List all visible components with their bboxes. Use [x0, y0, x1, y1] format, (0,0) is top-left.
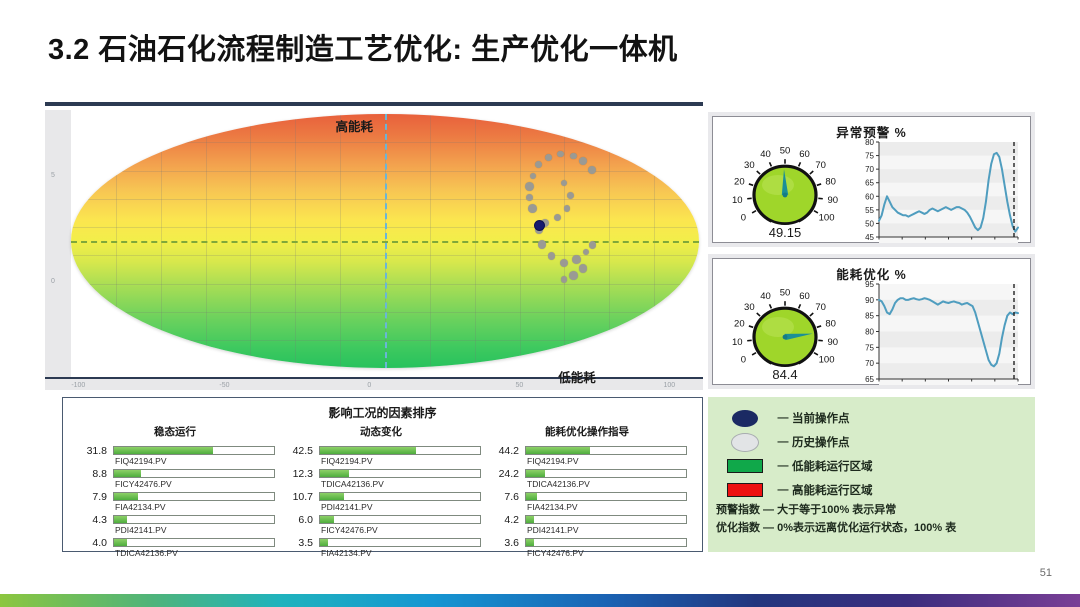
gauge-panel-anomaly-warning[interactable]: 异常预警 % 0102030405060708090100 49.15 4550… — [708, 112, 1035, 247]
plot-y-tick: 0 — [51, 278, 55, 285]
svg-text:80: 80 — [825, 176, 836, 187]
svg-text:70: 70 — [865, 165, 874, 174]
factor-tag: FICY42476.PV — [527, 548, 584, 558]
factor-row[interactable]: 8.8FICY42476.PV — [75, 468, 275, 491]
factor-value: 24.2 — [487, 468, 519, 480]
current-point-marker — [732, 410, 758, 427]
factor-bar-fill — [320, 539, 328, 546]
footer-color-bar — [0, 594, 1080, 607]
svg-text:45: 45 — [865, 233, 874, 242]
factor-bar-fill — [114, 516, 127, 523]
factor-row[interactable]: 3.6FICY42476.PV — [487, 537, 687, 560]
svg-text:60: 60 — [799, 149, 810, 160]
plot-x-tick: 50 — [515, 382, 523, 389]
plot-x-tick: -50 — [219, 382, 229, 389]
svg-text:65: 65 — [865, 179, 874, 188]
trend-chart-anomaly[interactable]: 4550556065707580 — [849, 138, 1024, 243]
svg-text:80: 80 — [865, 328, 874, 337]
svg-text:55: 55 — [865, 206, 874, 215]
dashboard-container: 50-5 -100-50050100 高能耗 低能耗 异常预警 % 010203… — [45, 102, 1035, 557]
legend-dash: — — [774, 436, 792, 448]
factor-bar-fill — [526, 493, 537, 500]
plot-y-tick: 5 — [51, 172, 55, 179]
factor-value: 6.0 — [281, 514, 313, 526]
factor-bar — [525, 446, 687, 455]
svg-text:10: 10 — [732, 337, 743, 348]
factor-value: 4.3 — [75, 514, 107, 526]
factor-bar — [525, 492, 687, 501]
factor-bar — [113, 492, 275, 501]
factor-row[interactable]: 10.7PDI42141.PV — [281, 491, 481, 514]
factor-row[interactable]: 12.3TDICA42136.PV — [281, 468, 481, 491]
factor-row[interactable]: 7.9FIA42134.PV — [75, 491, 275, 514]
factor-bar-fill — [320, 470, 349, 477]
svg-text:0: 0 — [741, 213, 746, 224]
history-operating-point — [560, 259, 568, 267]
horizontal-reference-line — [71, 241, 699, 243]
factor-tag: PDI42141.PV — [527, 525, 579, 535]
factor-row[interactable]: 6.0FICY42476.PV — [281, 514, 481, 537]
gauge-value-anomaly: 49.15 — [721, 225, 849, 240]
legend-panel: —当前操作点—历史操作点—低能耗运行区域—高能耗运行区域预警指数 — 大于等于1… — [708, 397, 1035, 552]
svg-text:80: 80 — [825, 318, 836, 329]
history-operating-point — [564, 205, 570, 211]
factor-tag: FIQ42194.PV — [321, 456, 373, 466]
factor-ranking-panel[interactable]: 影响工况的因素排序 稳态运行31.8FIQ42194.PV8.8FICY4247… — [62, 397, 703, 552]
factor-bar-fill — [320, 493, 344, 500]
factor-bar-fill — [320, 516, 334, 523]
legend-label: 低能耗运行区域 — [792, 458, 873, 474]
legend-dash: — — [774, 484, 792, 496]
factor-bar-fill — [526, 470, 545, 477]
legend-swatch-wrap — [716, 410, 774, 427]
factor-value: 3.5 — [281, 537, 313, 549]
gauge-panel-energy-optimization[interactable]: 能耗优化 % 0102030405060708090100 84.4 65707… — [708, 254, 1035, 389]
svg-text:0: 0 — [741, 355, 746, 366]
legend-note: 优化指数 — 0%表示远离优化运行状态，100% 表 — [716, 521, 1027, 537]
history-operating-point — [561, 276, 568, 283]
svg-text:20: 20 — [734, 318, 745, 329]
factor-value: 4.2 — [487, 514, 519, 526]
slide-number: 51 — [1040, 567, 1052, 579]
factor-tag: FICY42476.PV — [321, 525, 378, 535]
factor-bar — [525, 469, 687, 478]
factor-value: 4.0 — [75, 537, 107, 549]
legend-swatch-wrap — [716, 483, 774, 497]
history-operating-point — [545, 154, 552, 161]
factor-bar — [525, 538, 687, 547]
factor-value: 12.3 — [281, 468, 313, 480]
factor-value: 8.8 — [75, 468, 107, 480]
svg-text:70: 70 — [865, 359, 874, 368]
factor-row[interactable]: 4.0TDICA42136.PV — [75, 537, 275, 560]
gauge-value-energy: 84.4 — [721, 367, 849, 382]
high-energy-zone — [727, 483, 763, 497]
trend-chart-energy[interactable]: 65707580859095 — [849, 280, 1024, 385]
factor-tag: FIA42134.PV — [321, 548, 372, 558]
svg-text:40: 40 — [760, 291, 771, 302]
svg-text:100: 100 — [819, 213, 835, 224]
plot-y-axis: 50-5 — [45, 110, 71, 390]
factor-column-steady-state: 稳态运行31.8FIQ42194.PV8.8FICY42476.PV7.9FIA… — [75, 424, 275, 560]
factor-row[interactable]: 24.2TDICA42136.PV — [487, 468, 687, 491]
plot-x-tick: 0 — [367, 382, 371, 389]
svg-text:20: 20 — [734, 176, 745, 187]
factor-bar — [113, 515, 275, 524]
factor-bar — [525, 515, 687, 524]
history-operating-point — [589, 241, 596, 248]
factor-row[interactable]: 3.5FIA42134.PV — [281, 537, 481, 560]
factor-column-optimization-guide: 能耗优化操作指导44.2FIQ42194.PV24.2TDICA42136.PV… — [487, 424, 687, 560]
legend-row: —高能耗运行区域 — [716, 479, 1027, 501]
factor-panel-title: 影响工况的因素排序 — [63, 404, 702, 421]
svg-text:100: 100 — [819, 355, 835, 366]
factor-bar-fill — [114, 493, 138, 500]
history-operating-point — [572, 255, 581, 264]
svg-text:90: 90 — [827, 195, 838, 206]
low-energy-label: 低能耗 — [558, 367, 596, 386]
factor-bar — [319, 515, 481, 524]
history-operating-point — [579, 157, 587, 165]
history-operating-point — [530, 173, 536, 179]
svg-text:85: 85 — [865, 312, 874, 321]
legend-swatch-wrap — [716, 459, 774, 473]
factor-tag: FIQ42194.PV — [115, 456, 167, 466]
svg-text:60: 60 — [799, 291, 810, 302]
high-energy-label: 高能耗 — [335, 116, 373, 135]
history-operating-point — [569, 271, 578, 280]
svg-text:75: 75 — [865, 152, 874, 161]
history-point-marker — [731, 433, 759, 452]
factor-bar-fill — [526, 447, 590, 454]
plot-x-tick: -100 — [71, 382, 85, 389]
energy-gradient-ellipse — [71, 114, 699, 368]
history-operating-point — [526, 194, 533, 201]
factor-bar-fill — [114, 470, 141, 477]
svg-text:60: 60 — [865, 192, 874, 201]
svg-text:90: 90 — [827, 337, 838, 348]
factor-row[interactable]: 31.8FIQ42194.PV — [75, 445, 275, 468]
factor-bar — [113, 538, 275, 547]
legend-swatch-wrap — [716, 433, 774, 452]
svg-text:90: 90 — [865, 296, 874, 305]
history-operating-point — [548, 252, 556, 260]
svg-text:95: 95 — [865, 280, 874, 289]
factor-row[interactable]: 42.5FIQ42194.PV — [281, 445, 481, 468]
gauge-inner: 能耗优化 % 0102030405060708090100 84.4 65707… — [712, 258, 1031, 385]
svg-text:10: 10 — [732, 195, 743, 206]
legend-label: 高能耗运行区域 — [792, 482, 873, 498]
history-operating-point — [570, 153, 576, 159]
svg-text:50: 50 — [780, 145, 791, 156]
factor-tag: PDI42141.PV — [321, 502, 373, 512]
factor-value: 42.5 — [281, 445, 313, 457]
factor-row[interactable]: 4.2PDI42141.PV — [487, 514, 687, 537]
svg-text:70: 70 — [815, 302, 826, 313]
factor-row[interactable]: 7.6FIA42134.PV — [487, 491, 687, 514]
factor-bar — [113, 469, 275, 478]
factor-value: 10.7 — [281, 491, 313, 503]
svg-text:65: 65 — [865, 375, 874, 384]
factor-value: 44.2 — [487, 445, 519, 457]
svg-text:40: 40 — [760, 149, 771, 160]
history-operating-point — [528, 204, 537, 213]
factor-bar-fill — [526, 516, 534, 523]
svg-text:30: 30 — [744, 160, 755, 171]
history-operating-point — [525, 182, 534, 191]
svg-text:80: 80 — [865, 138, 874, 147]
svg-text:50: 50 — [780, 287, 791, 298]
factor-bar-fill — [114, 447, 213, 454]
plot-x-tick: 100 — [664, 382, 676, 389]
svg-text:75: 75 — [865, 343, 874, 352]
legend-note: 预警指数 — 大于等于100% 表示异常 — [716, 503, 1027, 519]
factor-bar-fill — [114, 539, 127, 546]
factor-tag: PDI42141.PV — [115, 525, 167, 535]
factor-bar — [319, 492, 481, 501]
operating-point-plot-panel[interactable]: 50-5 -100-50050100 高能耗 低能耗 — [45, 102, 703, 390]
legend-dash: — — [774, 412, 792, 424]
factor-value: 7.6 — [487, 491, 519, 503]
factor-bar — [319, 446, 481, 455]
factor-tag: FIQ42194.PV — [527, 456, 579, 466]
svg-text:50: 50 — [865, 219, 874, 228]
factor-tag: FIA42134.PV — [115, 502, 166, 512]
factor-bar — [319, 538, 481, 547]
svg-text:70: 70 — [815, 160, 826, 171]
factor-value: 3.6 — [487, 537, 519, 549]
svg-text:30: 30 — [744, 302, 755, 313]
legend-row: —低能耗运行区域 — [716, 455, 1027, 477]
gauge-inner: 异常预警 % 0102030405060708090100 49.15 4550… — [712, 116, 1031, 243]
factor-tag: TDICA42136.PV — [115, 548, 178, 558]
legend-row: —当前操作点 — [716, 407, 1027, 429]
factor-tag: FICY42476.PV — [115, 479, 172, 489]
plot-x-axis: -100-50050100 — [45, 377, 703, 390]
factor-value: 7.9 — [75, 491, 107, 503]
factor-bar — [319, 469, 481, 478]
legend-dash: — — [774, 460, 792, 472]
low-energy-zone — [727, 459, 763, 473]
factor-tag: TDICA42136.PV — [321, 479, 384, 489]
factor-bar — [113, 446, 275, 455]
factor-column-dynamic-change: 动态变化42.5FIQ42194.PV12.3TDICA42136.PV10.7… — [281, 424, 481, 560]
plot-inner: 50-5 -100-50050100 高能耗 低能耗 — [45, 110, 703, 390]
factor-bar-fill — [320, 447, 416, 454]
factor-tag: TDICA42136.PV — [527, 479, 590, 489]
page-title: 3.2 石油石化流程制造工艺优化: 生产优化一体机 — [48, 26, 678, 68]
factor-value: 31.8 — [75, 445, 107, 457]
factor-column-heading: 稳态运行 — [75, 424, 275, 439]
legend-label: 当前操作点 — [792, 410, 850, 426]
legend-row: —历史操作点 — [716, 431, 1027, 453]
factor-tag: FIA42134.PV — [527, 502, 578, 512]
factor-row[interactable]: 44.2FIQ42194.PV — [487, 445, 687, 468]
factor-row[interactable]: 4.3PDI42141.PV — [75, 514, 275, 537]
legend-label: 历史操作点 — [792, 434, 850, 450]
ellipse-region — [71, 112, 699, 377]
factor-column-heading: 动态变化 — [281, 424, 481, 439]
factor-column-heading: 能耗优化操作指导 — [487, 424, 687, 439]
factor-bar-fill — [526, 539, 534, 546]
history-operating-point — [579, 264, 587, 272]
